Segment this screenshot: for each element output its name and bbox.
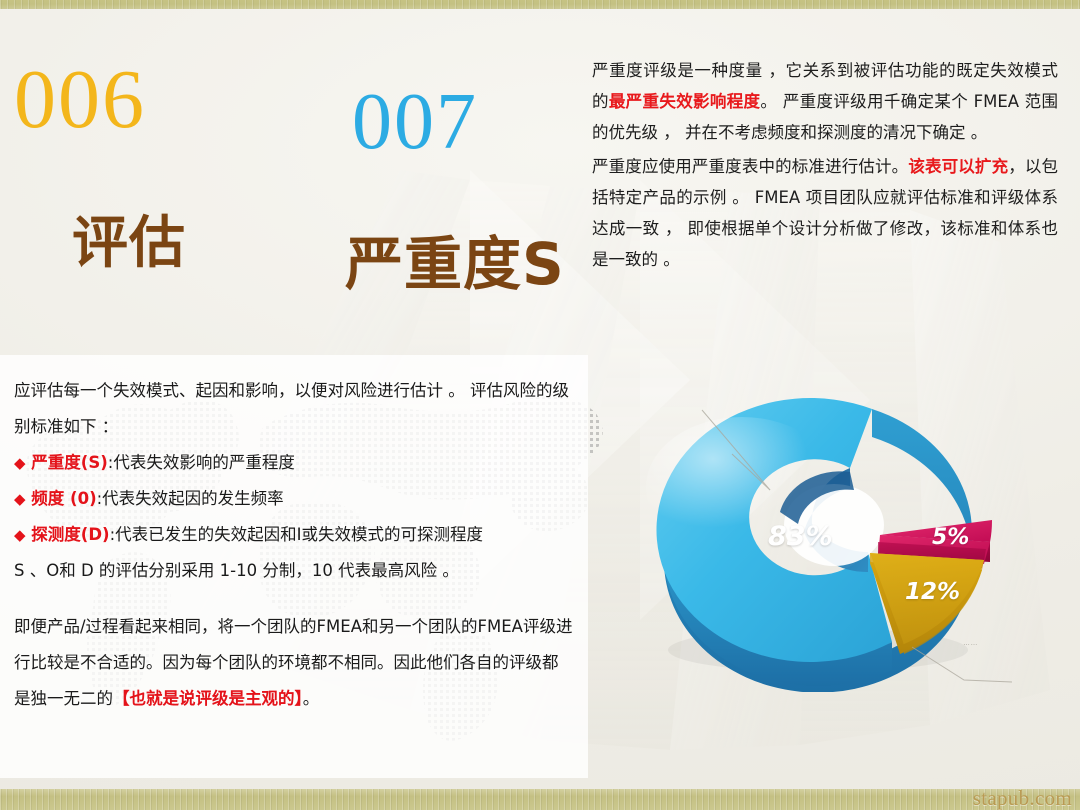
paragraph1-highlight: 最严重失效影响程度 (609, 92, 761, 111)
bottom-border-band (0, 789, 1080, 810)
bullet-occurrence-desc: :代表失效起因的发生频率 (97, 489, 284, 508)
bullet-severity-term: 严重度(S) (31, 453, 107, 472)
risk-criteria-content: 应评估每一个失效模式、起因和影响，以便对风险进行估计 。 评估风险的级别标准如下… (14, 373, 574, 717)
diamond-bullet-icon: ◆ 频度 (0) (14, 489, 97, 508)
site-watermark: stapub.com (973, 786, 1072, 810)
diamond-bullet-icon: ◆ 严重度(S) (14, 453, 108, 472)
bullet-detection-term: 探测度(D) (31, 525, 109, 544)
paragraph2-highlight: 该表可以扩充 (908, 157, 1008, 176)
chart-label-5: 5% (932, 525, 969, 550)
paragraph-spacer (14, 589, 574, 609)
bullet-detection: ◆ 探测度(D):代表已发生的失效起因和I或失效模式的可探测程度 (14, 517, 574, 553)
paragraph-severity-definition: 严重度评级是一种度量 ，它关系到被评估功能的既定失效模式的最严重失效影响程度。 … (592, 55, 1058, 148)
diamond-bullet-icon: ◆ 探测度(D) (14, 525, 110, 544)
section-number-007: 007 (352, 82, 478, 162)
scale-note: S 、O和 D 的评估分别采用 1-10 分制，10 代表最高风险 。 (14, 553, 574, 589)
section-number-006: 006 (14, 58, 146, 142)
bullet-occurrence-term: 频度 (0) (31, 489, 96, 508)
bullet-detection-desc: :代表已发生的失效起因和I或失效模式的可探测程度 (110, 525, 483, 544)
bullet-occurrence: ◆ 频度 (0):代表失效起因的发生频率 (14, 481, 574, 517)
severity-description-column: 严重度评级是一种度量 ，它关系到被评估功能的既定失效模式的最严重失效影响程度。 … (592, 55, 1058, 275)
bullet-severity: ◆ 严重度(S):代表失效影响的严重程度 (14, 445, 574, 481)
closing-part2: 。 (303, 689, 320, 708)
chart-label-12: 12% (905, 579, 960, 605)
section-title-yanzhongdu: 严重度S (345, 235, 565, 293)
section-title-pinggu: 评估 (72, 216, 186, 272)
bullet-severity-desc: :代表失效影响的严重程度 (108, 453, 295, 472)
chart-faint-annotation: …… (963, 640, 978, 647)
slide-canvas: 006 评估 007 严重度S 严重度评级是一种度量 ，它关系到被评估功能的既定… (0, 0, 1080, 810)
paragraph2-part1: 严重度应使用严重度表中的标准进行估计。 (592, 157, 908, 176)
paragraph-severity-table: 严重度应使用严重度表中的标准进行估计。该表可以扩充，以包括特定产品的示例 。 F… (592, 151, 1058, 275)
panel-intro-text: 应评估每一个失效模式、起因和影响，以便对风险进行估计 。 评估风险的级别标准如下… (14, 373, 574, 445)
closing-highlight: 【也就是说评级是主观的】 (113, 689, 303, 708)
chart-label-83: 83% (768, 521, 833, 552)
top-border-band (0, 0, 1080, 9)
closing-paragraph: 即便产品/过程看起来相同，将一个团队的FMEA和另一个团队的FMEA评级进行比较… (14, 609, 574, 717)
